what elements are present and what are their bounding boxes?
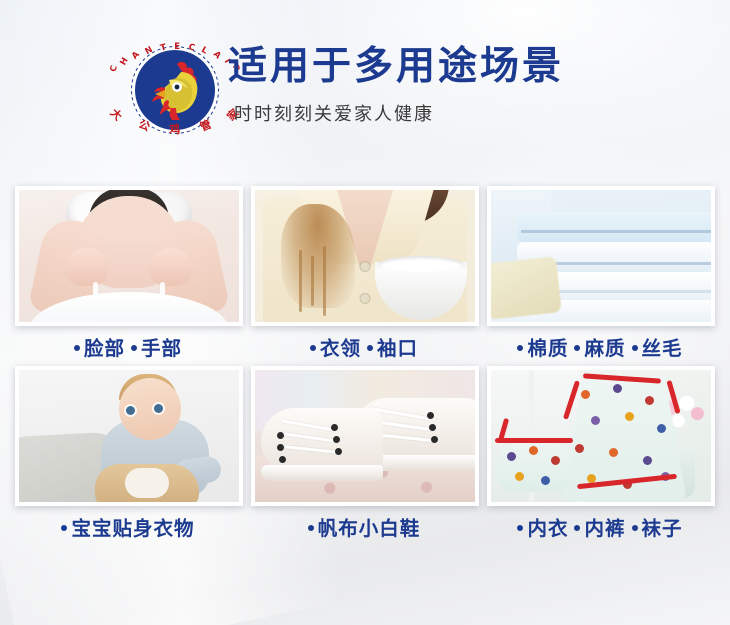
scenario-caption: 棉质麻质丝毛 bbox=[487, 339, 715, 359]
grid-row: 脸部手部 bbox=[15, 186, 715, 359]
photo-frame bbox=[15, 366, 243, 506]
photo-frame bbox=[487, 186, 715, 326]
logo-chinese-wordmark: 大公鸡管家 bbox=[128, 121, 222, 137]
title-block: 适用于多用途场景 时时刻刻关爱家人健康 bbox=[228, 46, 648, 126]
caption-segment: 内裤 bbox=[584, 517, 625, 540]
scenario-grid: 脸部手部 bbox=[15, 186, 715, 545]
bullet-dot bbox=[61, 525, 67, 531]
caption-segment: 麻质 bbox=[584, 337, 625, 360]
bullet-dot bbox=[74, 345, 80, 351]
caption-segment: 手部 bbox=[141, 337, 182, 360]
promo-banner-page: CHANTECLAIR 大公鸡管家 适用于多用途场景 时时刻刻关爱家人健康 bbox=[0, 0, 730, 625]
caption-segment: 宝宝贴身衣物 bbox=[71, 517, 194, 540]
bullet-dot bbox=[308, 525, 314, 531]
woman-washing-face-photo bbox=[19, 190, 239, 322]
scenario-cell-underwear-socks: 内衣内裤袜子 bbox=[487, 366, 715, 539]
photo-frame bbox=[251, 186, 479, 326]
rooster-icon bbox=[147, 60, 203, 120]
baby-in-onesie-photo bbox=[19, 370, 239, 502]
caption-segment: 衣领 bbox=[320, 337, 361, 360]
photo-frame bbox=[15, 186, 243, 326]
coffee-stained-blouse-photo bbox=[255, 190, 475, 322]
logo-latin-wordmark: CHANTECLAIR bbox=[128, 42, 222, 52]
bullet-dot bbox=[517, 525, 523, 531]
scenario-cell-baby-clothes: 宝宝贴身衣物 bbox=[15, 366, 243, 539]
scenario-caption: 帆布小白鞋 bbox=[251, 519, 479, 539]
caption-segment: 袖口 bbox=[377, 337, 418, 360]
bullet-dot bbox=[632, 525, 638, 531]
bullet-dot bbox=[517, 345, 523, 351]
caption-segment: 棉质 bbox=[527, 337, 568, 360]
scenario-caption: 衣领袖口 bbox=[251, 339, 479, 359]
scenario-caption: 宝宝贴身衣物 bbox=[15, 519, 243, 539]
bullet-dot bbox=[310, 345, 316, 351]
page-title: 适用于多用途场景 bbox=[228, 46, 648, 88]
bullet-dot bbox=[131, 345, 137, 351]
polka-dot-lingerie-photo bbox=[491, 370, 711, 502]
caption-segment: 内衣 bbox=[527, 517, 568, 540]
grid-row: 宝宝贴身衣物 bbox=[15, 366, 715, 539]
caption-segment: 丝毛 bbox=[642, 337, 683, 360]
bullet-dot bbox=[632, 345, 638, 351]
scenario-cell-fabrics: 棉质麻质丝毛 bbox=[487, 186, 715, 359]
bullet-dot bbox=[574, 345, 580, 351]
scenario-caption: 内衣内裤袜子 bbox=[487, 519, 715, 539]
caption-segment: 帆布小白鞋 bbox=[318, 517, 421, 540]
scenario-caption: 脸部手部 bbox=[15, 339, 243, 359]
banner-header: CHANTECLAIR 大公鸡管家 适用于多用途场景 时时刻刻关爱家人健康 bbox=[0, 0, 730, 175]
chanteclair-rooster-logo: CHANTECLAIR 大公鸡管家 bbox=[128, 43, 222, 137]
bullet-dot bbox=[367, 345, 373, 351]
page-subtitle: 时时刻刻关爱家人健康 bbox=[234, 100, 648, 126]
stacked-white-towels-photo bbox=[491, 190, 711, 322]
bullet-dot bbox=[574, 525, 580, 531]
photo-frame bbox=[251, 366, 479, 506]
scenario-cell-face-hands: 脸部手部 bbox=[15, 186, 243, 359]
scenario-cell-collar-cuff: 衣领袖口 bbox=[251, 186, 479, 359]
scenario-cell-canvas-shoes: 帆布小白鞋 bbox=[251, 366, 479, 539]
caption-segment: 袜子 bbox=[642, 517, 683, 540]
caption-segment: 脸部 bbox=[84, 337, 125, 360]
white-canvas-sneakers-photo bbox=[255, 370, 475, 502]
photo-frame bbox=[487, 366, 715, 506]
